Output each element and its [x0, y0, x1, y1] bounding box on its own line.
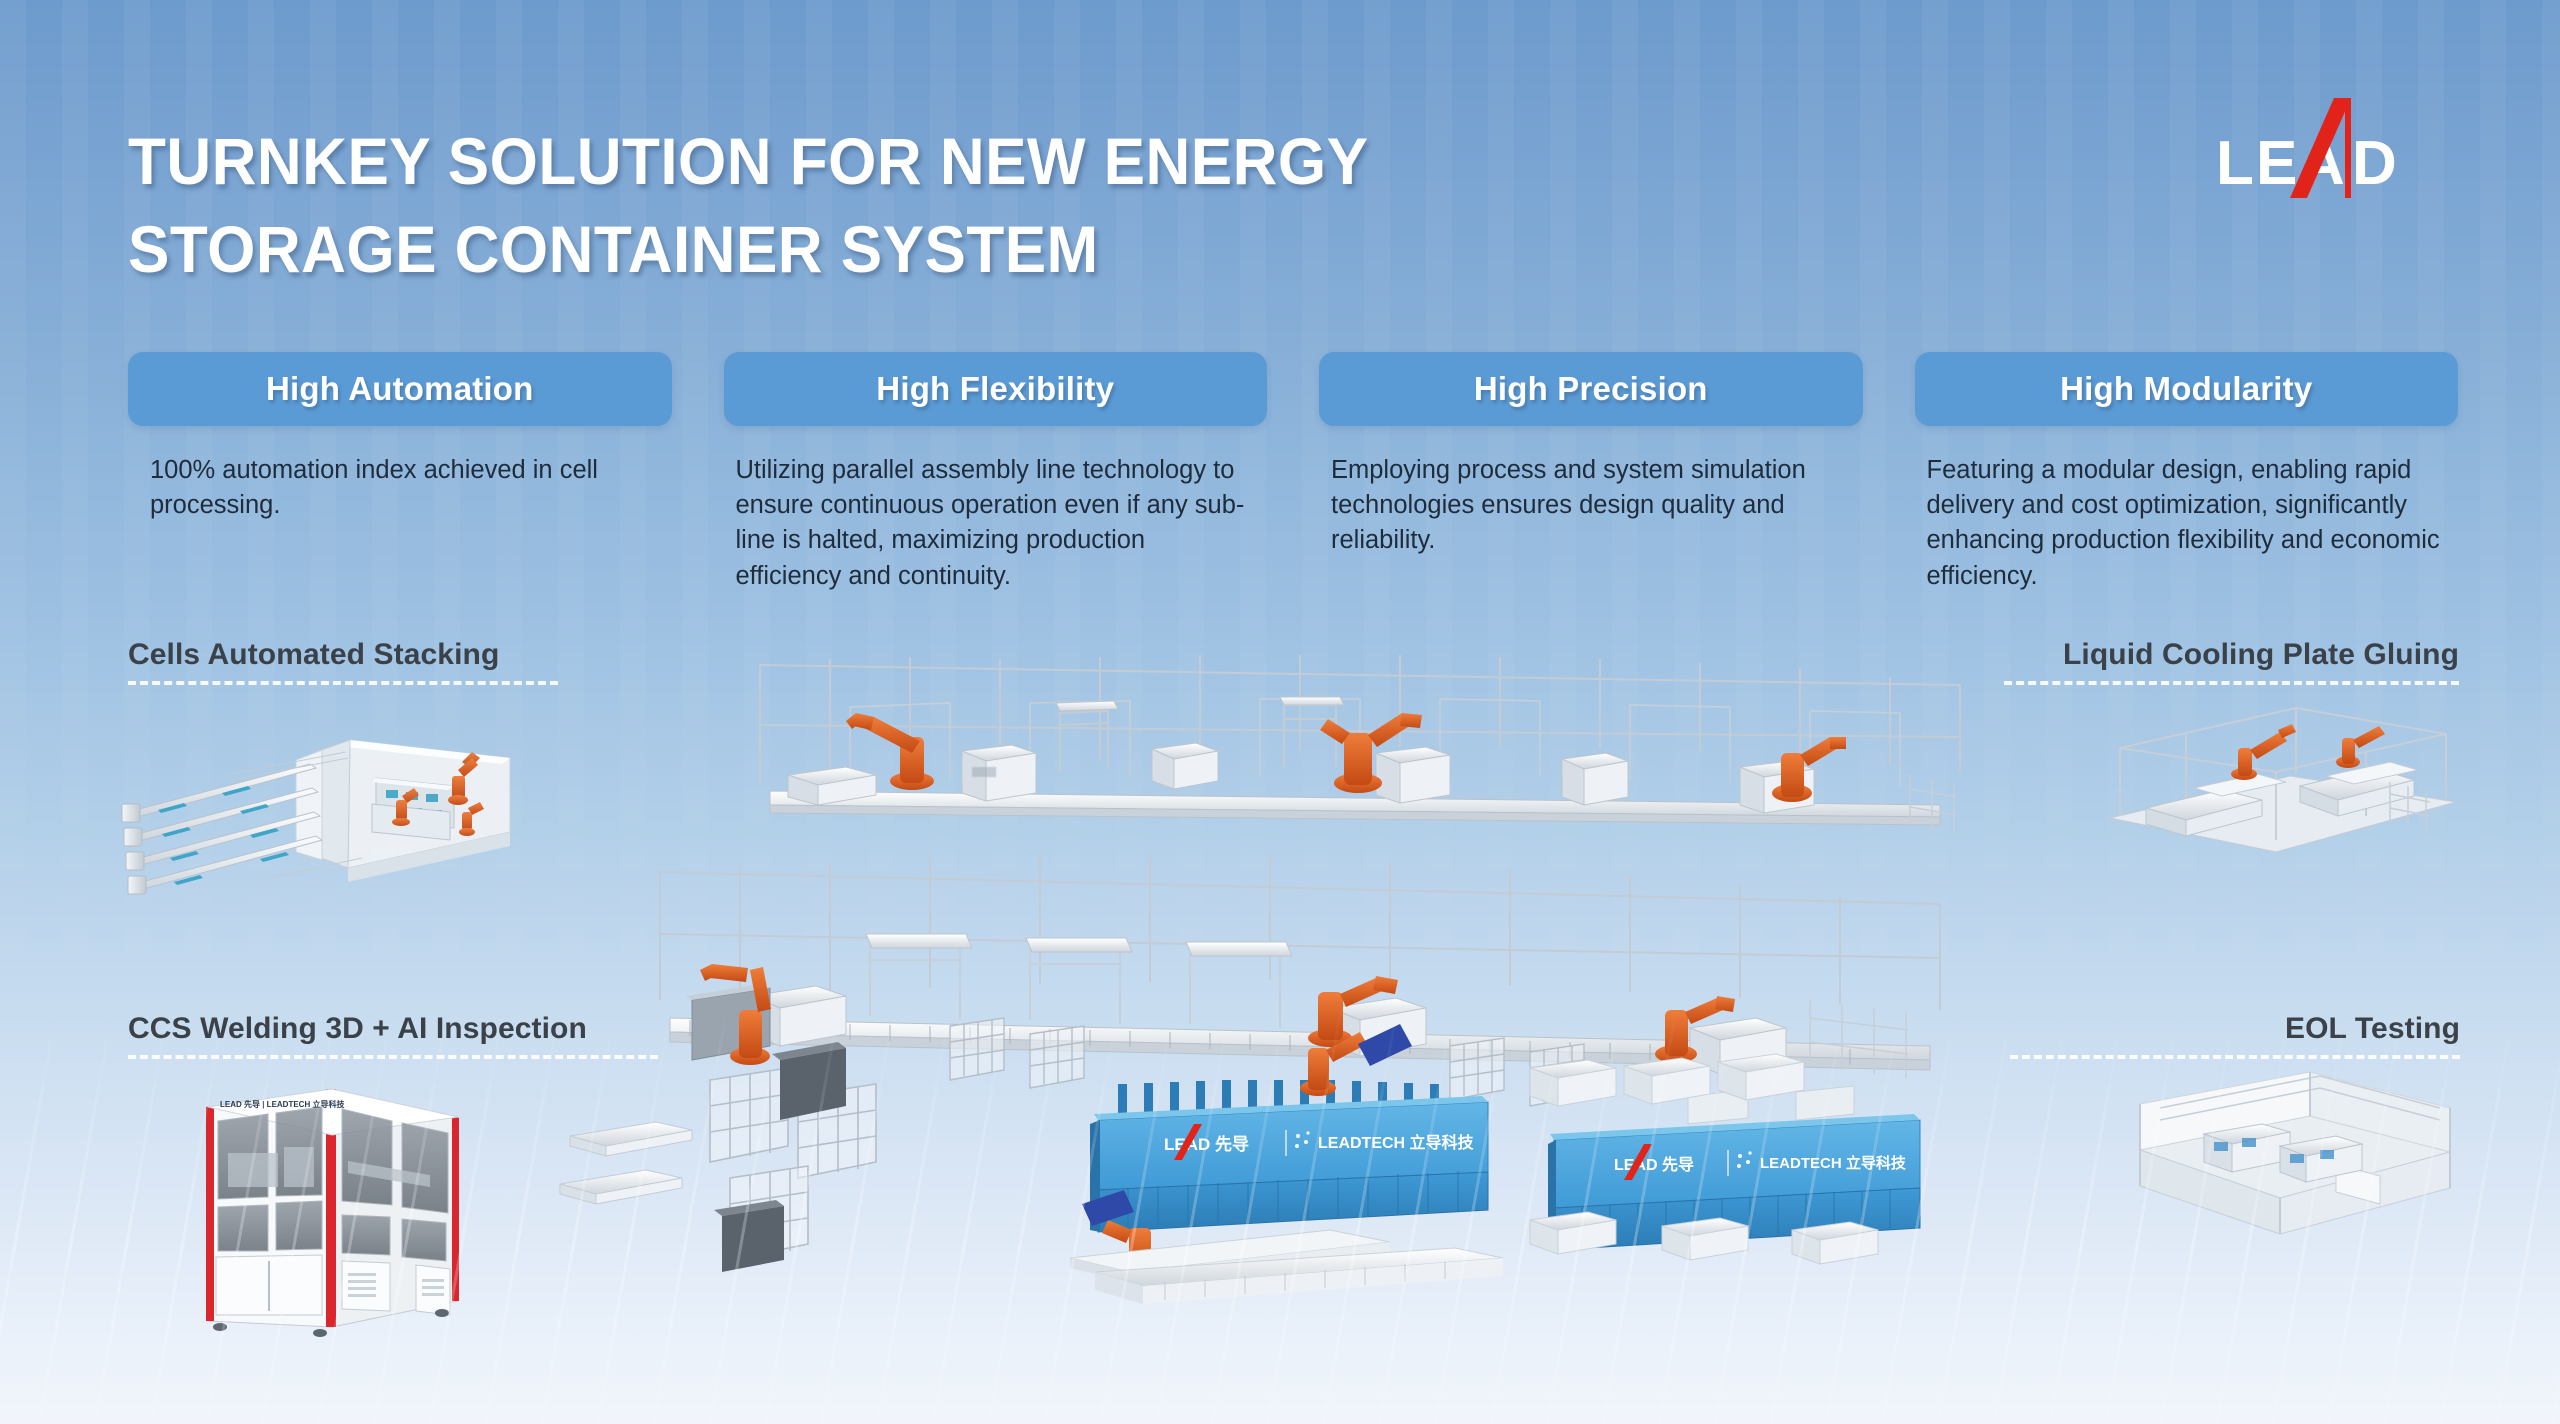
section-label-text: CCS Welding 3D + AI Inspection: [128, 1012, 587, 1045]
dashed-rule: [2010, 1055, 2460, 1059]
feature-pill-high-modularity[interactable]: High Modularity: [1915, 352, 2459, 426]
section-label-cells-automated-stacking: Cells Automated Stacking: [128, 638, 558, 685]
svg-text:D: D: [2352, 129, 2398, 198]
section-label-liquid-cooling-plate-gluing: Liquid Cooling Plate Gluing: [2004, 638, 2459, 685]
background-light-rays: [0, 1004, 2560, 1424]
storage-container-left: LEAD 先导 LEADTECH 立导科技: [1090, 1080, 1520, 1310]
feature-body-high-precision: Employing process and system simulation …: [1319, 453, 1863, 559]
feature-body-high-modularity: Featuring a modular design, enabling rap…: [1915, 453, 2459, 594]
dashed-rule: [128, 681, 558, 685]
feature-body-high-flexibility: Utilizing parallel assembly line technol…: [724, 453, 1268, 594]
svg-text:LEAD 先导: LEAD 先导: [1614, 1155, 1694, 1174]
feature-pill-high-flexibility[interactable]: High Flexibility: [724, 352, 1268, 426]
ccs-inspection-machine: LEAD 先导 | LEADTECH 立导科技: [180, 1065, 480, 1345]
svg-text:L: L: [2216, 129, 2255, 198]
upper-production-line: [700, 655, 2000, 945]
svg-text:LEAD 先导: LEAD 先导: [1164, 1134, 1249, 1154]
svg-text:E: E: [2256, 129, 2298, 198]
section-label-text: EOL Testing: [2285, 1012, 2460, 1045]
feature-card-high-flexibility: High Flexibility Utilizing parallel asse…: [724, 352, 1268, 594]
machine-brand-strip: LEAD 先导 | LEADTECH 立导科技: [220, 1099, 345, 1109]
feature-body-high-automation: 100% automation index achieved in cell p…: [128, 453, 672, 523]
section-label-ccs-welding-inspection: CCS Welding 3D + AI Inspection: [128, 1012, 658, 1059]
feature-pill-high-automation[interactable]: High Automation: [128, 352, 672, 426]
lead-logo: L E A D: [2212, 80, 2452, 200]
feature-pill-high-precision[interactable]: High Precision: [1319, 352, 1863, 426]
container-branding-left: LEAD 先导 LEADTECH 立导科技: [1164, 1130, 1475, 1156]
page-title: TURNKEY SOLUTION FOR NEW ENERGY STORAGE …: [128, 128, 1538, 282]
section-label-text: Cells Automated Stacking: [128, 638, 499, 671]
dashed-rule: [128, 1055, 658, 1059]
title-line-2: STORAGE CONTAINER SYSTEM: [128, 216, 1538, 282]
svg-text:LEADTECH 立导科技: LEADTECH 立导科技: [1318, 1133, 1475, 1152]
svg-text:LEADTECH 立导科技: LEADTECH 立导科技: [1760, 1154, 1907, 1172]
dashed-rule: [2004, 681, 2459, 685]
feature-row: High Automation 100% automation index ac…: [128, 352, 2458, 594]
lower-production-line: [630, 850, 1990, 1140]
cells-stacking-illustration: [110, 700, 530, 910]
feature-card-high-modularity: High Modularity Featuring a modular desi…: [1915, 352, 2459, 594]
container-branding-right: LEAD 先导 LEADTECH 立导科技: [1614, 1150, 1907, 1176]
svg-text:LEAD 先导 | LEADTECH 立导科技: LEAD 先导 | LEADTECH 立导科技: [220, 1099, 345, 1109]
title-line-1: TURNKEY SOLUTION FOR NEW ENERGY: [128, 124, 1369, 198]
liquid-cooling-gluing-illustration: [2090, 690, 2470, 890]
section-label-eol-testing: EOL Testing: [2010, 1012, 2460, 1059]
feature-card-high-automation: High Automation 100% automation index ac…: [128, 352, 672, 594]
output-conveyor: [1095, 1248, 1515, 1328]
white-pallets-group: [1530, 1058, 2130, 1308]
section-label-text: Liquid Cooling Plate Gluing: [2063, 638, 2459, 671]
feature-card-high-precision: High Precision Employing process and sys…: [1319, 352, 1863, 594]
module-trays-group: [560, 1060, 1080, 1320]
storage-container-right: LEAD 先导 LEADTECH 立导科技: [1548, 1108, 1948, 1288]
eol-testing-illustration: [2130, 1080, 2460, 1300]
